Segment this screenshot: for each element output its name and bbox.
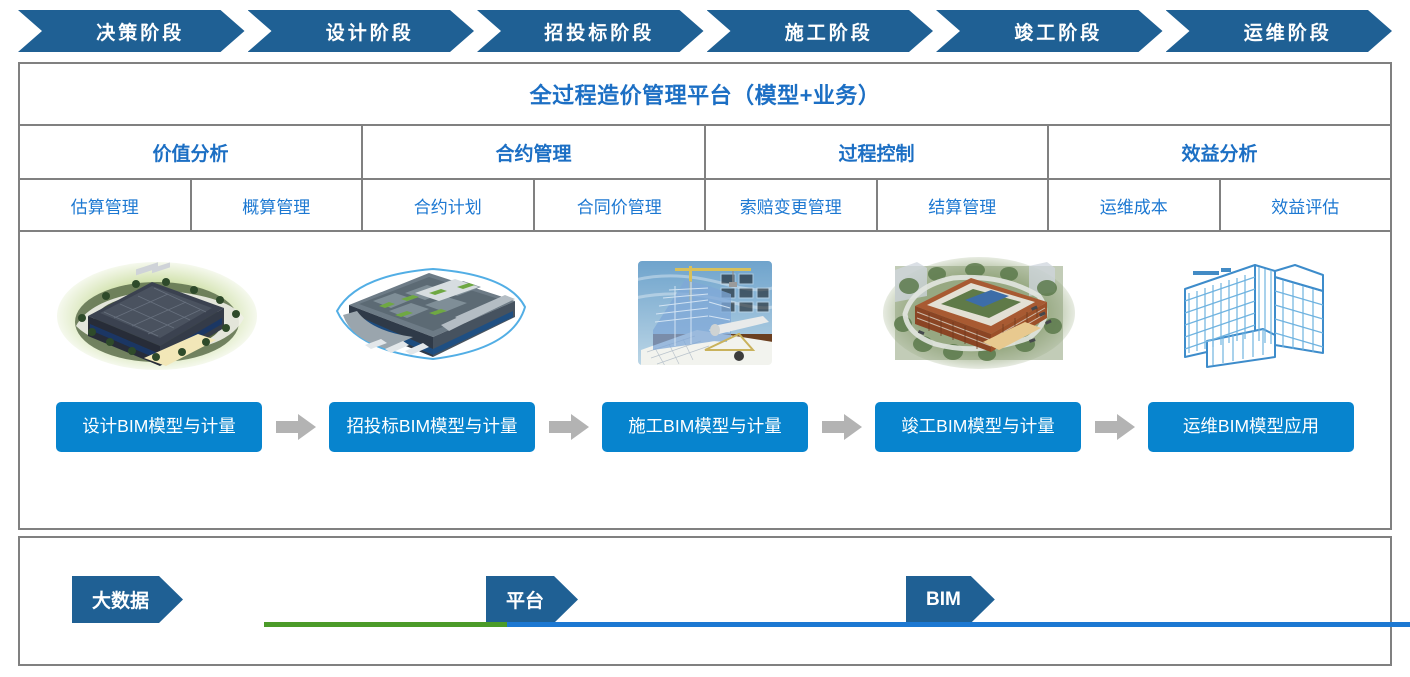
category-process-control[interactable]: 过程控制 xyxy=(706,126,1049,178)
right-arrow-icon xyxy=(1081,414,1148,440)
module-label: 合约计划 xyxy=(414,193,482,218)
module-row: 估算管理 概算管理 合约计划 合同价管理 索赔变更管理 结算管理 运维成本 效益… xyxy=(20,180,1390,232)
right-arrow-icon xyxy=(535,414,602,440)
bim-thumbnail-slot-3 xyxy=(568,250,842,376)
bim-box-label: 施工BIM模型与计量 xyxy=(628,416,782,438)
bim-thumbnail-row xyxy=(20,250,1390,376)
completion-bim-model-thumbnail xyxy=(879,252,1079,374)
stage-arrow-design[interactable]: 设计阶段 xyxy=(248,10,475,52)
module-label: 估算管理 xyxy=(71,193,139,218)
stage-label: 竣工阶段 xyxy=(1014,18,1102,45)
right-arrow-icon xyxy=(808,414,875,440)
module-claim-change-management[interactable]: 索赔变更管理 xyxy=(706,180,878,230)
stage-arrow-construction[interactable]: 施工阶段 xyxy=(707,10,934,52)
stage-arrow-operation[interactable]: 运维阶段 xyxy=(1166,10,1393,52)
foundation-line-blue xyxy=(507,622,1410,627)
bim-thumbnail-slot-2 xyxy=(294,250,568,376)
project-stage-arrow-bar: 决策阶段 设计阶段 招投标阶段 施工阶段 竣工阶段 运维阶段 xyxy=(18,10,1392,52)
module-label: 运维成本 xyxy=(1100,193,1168,218)
category-label: 合约管理 xyxy=(495,139,571,166)
category-label: 效益分析 xyxy=(1181,139,1257,166)
module-budget-management[interactable]: 概算管理 xyxy=(192,180,364,230)
module-estimate-management[interactable]: 估算管理 xyxy=(20,180,192,230)
category-row: 价值分析 合约管理 过程控制 效益分析 xyxy=(20,126,1390,180)
bim-thumbnail-slot-4 xyxy=(842,250,1116,376)
page-title: 全过程造价管理平台（模型+业务） xyxy=(530,78,881,110)
stage-label: 设计阶段 xyxy=(326,18,414,45)
stage-arrow-tender[interactable]: 招投标阶段 xyxy=(477,10,704,52)
foundation-tag-bim[interactable]: BIM xyxy=(906,576,995,623)
foundation-line-green xyxy=(264,622,507,627)
bim-thumbnail-slot-1 xyxy=(20,250,294,376)
foundation-tag-label: 大数据 xyxy=(92,586,149,613)
platform-title-row: 全过程造价管理平台（模型+业务） xyxy=(20,64,1390,126)
category-label: 价值分析 xyxy=(152,139,228,166)
foundation-tag-bigdata[interactable]: 大数据 xyxy=(72,576,183,623)
foundation-ellipsis: ...... xyxy=(1216,610,1250,630)
stage-label: 施工阶段 xyxy=(785,18,873,45)
category-contract-management[interactable]: 合约管理 xyxy=(363,126,706,178)
category-benefit-analysis[interactable]: 效益分析 xyxy=(1049,126,1390,178)
bim-box-label: 设计BIM模型与计量 xyxy=(82,416,236,438)
stage-label: 决策阶段 xyxy=(96,18,184,45)
bim-box-completion[interactable]: 竣工BIM模型与计量 xyxy=(875,402,1081,452)
module-operation-cost[interactable]: 运维成本 xyxy=(1049,180,1221,230)
module-label: 索赔变更管理 xyxy=(740,193,842,218)
bim-flow-box-row: 设计BIM模型与计量 招投标BIM模型与计量 施工BIM模型与计量 xyxy=(20,402,1390,452)
foundation-tag-label: BIM xyxy=(926,589,961,611)
tender-bim-model-thumbnail xyxy=(329,253,533,373)
module-contract-plan[interactable]: 合约计划 xyxy=(363,180,535,230)
module-label: 效益评估 xyxy=(1271,193,1339,218)
module-label: 结算管理 xyxy=(928,193,996,218)
bim-box-tender[interactable]: 招投标BIM模型与计量 xyxy=(329,402,535,452)
foundation-tag-label: 平台 xyxy=(506,586,544,613)
category-label: 过程控制 xyxy=(838,139,914,166)
module-contract-price-management[interactable]: 合同价管理 xyxy=(535,180,707,230)
bim-box-construction[interactable]: 施工BIM模型与计量 xyxy=(602,402,808,452)
stage-label: 运维阶段 xyxy=(1244,18,1332,45)
module-label: 合同价管理 xyxy=(577,193,662,218)
design-bim-model-thumbnail xyxy=(48,252,266,374)
stage-arrow-decision[interactable]: 决策阶段 xyxy=(18,10,245,52)
stage-arrow-completion[interactable]: 竣工阶段 xyxy=(936,10,1163,52)
foundation-tag-platform[interactable]: 平台 xyxy=(486,576,578,623)
bim-box-design[interactable]: 设计BIM模型与计量 xyxy=(56,402,262,452)
foundation-panel: 大数据 平台 BIM ...... xyxy=(18,536,1392,666)
bim-thumbnail-slot-5 xyxy=(1116,250,1390,376)
bim-box-label: 招投标BIM模型与计量 xyxy=(346,416,517,438)
category-value-analysis[interactable]: 价值分析 xyxy=(20,126,363,178)
construction-bim-model-thumbnail xyxy=(635,258,775,368)
module-benefit-evaluation[interactable]: 效益评估 xyxy=(1221,180,1391,230)
module-settlement-management[interactable]: 结算管理 xyxy=(878,180,1050,230)
bim-box-label: 运维BIM模型应用 xyxy=(1183,416,1319,438)
bim-box-operation[interactable]: 运维BIM模型应用 xyxy=(1148,402,1354,452)
stage-label: 招投标阶段 xyxy=(544,18,654,45)
module-label: 概算管理 xyxy=(242,193,310,218)
operation-bim-model-thumbnail xyxy=(1163,249,1343,377)
bim-box-label: 竣工BIM模型与计量 xyxy=(901,416,1055,438)
platform-panel: 全过程造价管理平台（模型+业务） 价值分析 合约管理 过程控制 效益分析 估算管… xyxy=(18,62,1392,530)
right-arrow-icon xyxy=(262,414,329,440)
bim-flow-area: 设计BIM模型与计量 招投标BIM模型与计量 施工BIM模型与计量 xyxy=(20,232,1390,526)
whole-process-cost-management-diagram: 决策阶段 设计阶段 招投标阶段 施工阶段 竣工阶段 运维阶段 全过程造价管理平台… xyxy=(0,0,1410,677)
